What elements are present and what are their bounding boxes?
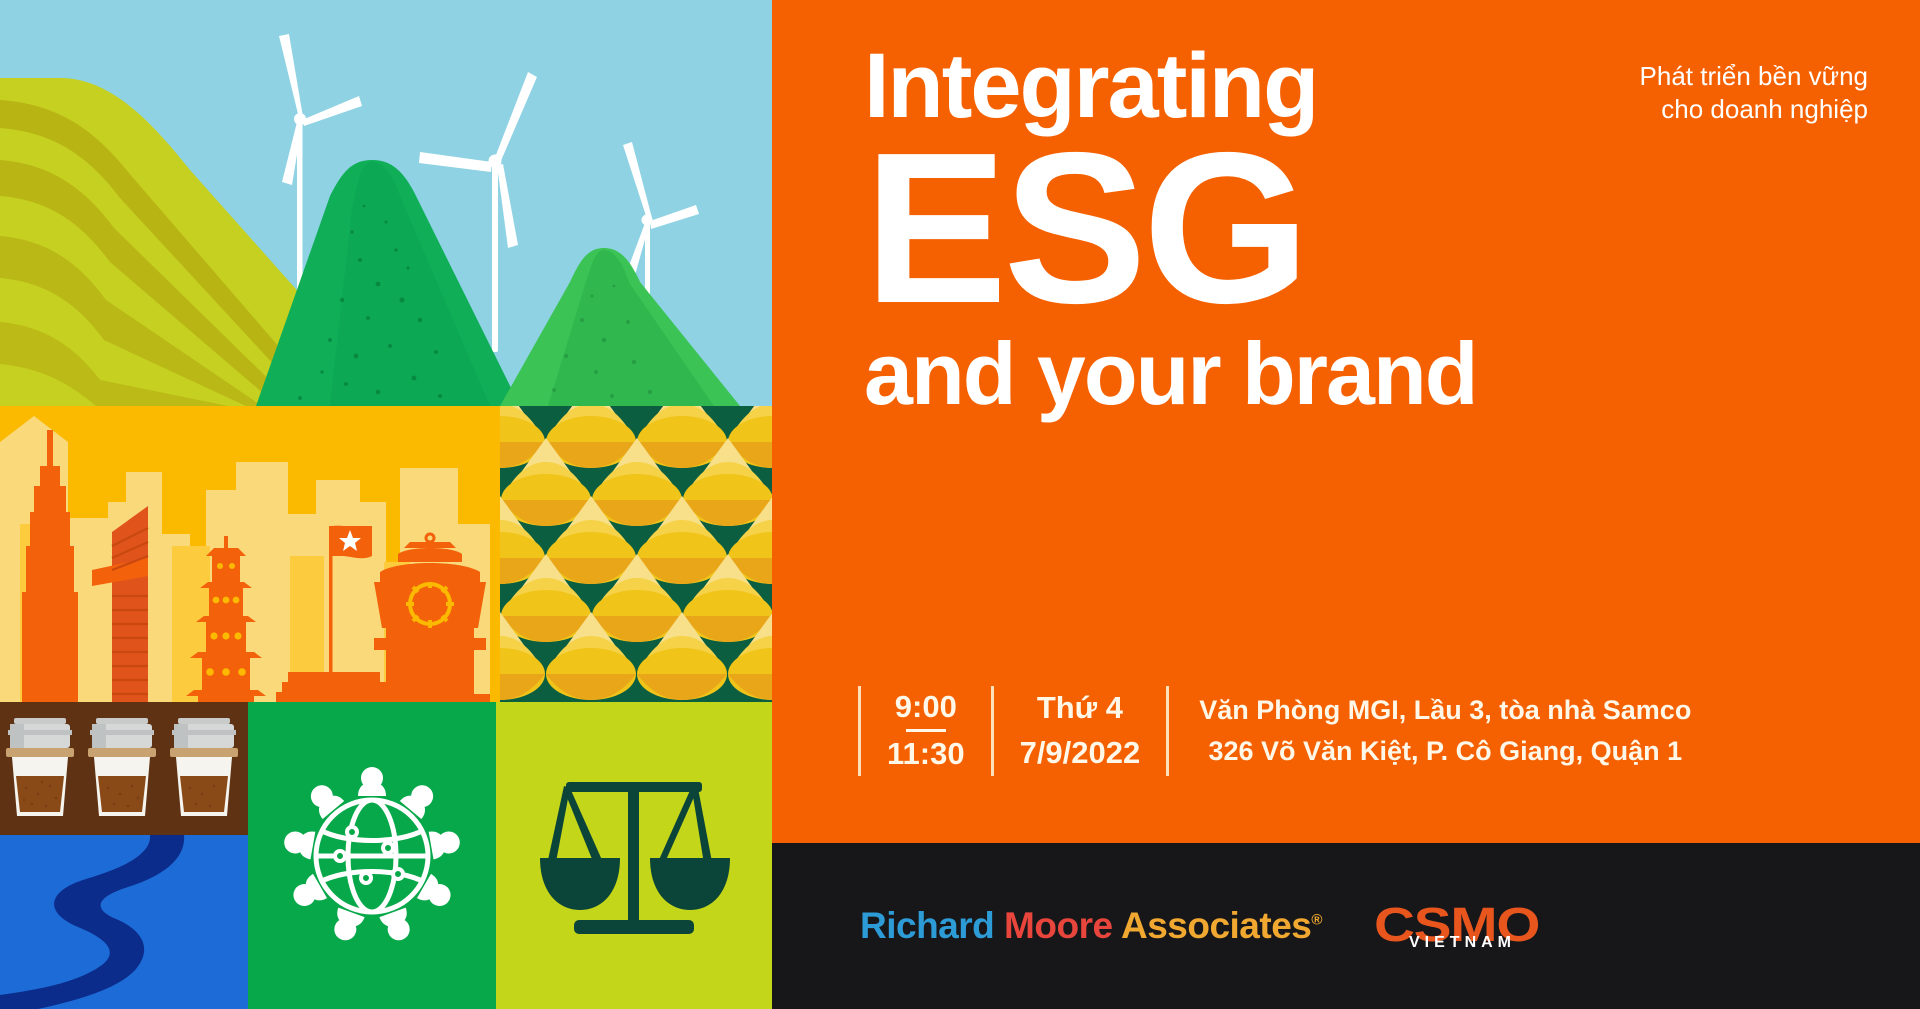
rma-word-moore: Moore: [1004, 905, 1113, 946]
panel-vietnamese-coffee: [0, 702, 248, 835]
footer-bar: Richard Moore Associates® CSMO VIETNAM: [772, 843, 1920, 1009]
address-line-2: 326 Võ Văn Kiệt, P. Cô Giang, Quận 1: [1199, 731, 1691, 772]
esg-event-poster: Integrating ESG and your brand Phát triể…: [0, 0, 1920, 1009]
event-date: Thứ 4 7/9/2022: [994, 686, 1167, 776]
main-orange-panel: Integrating ESG and your brand Phát triể…: [772, 0, 1920, 843]
winding-river-illustration: [0, 835, 248, 1009]
panel-global-community: [248, 702, 496, 1009]
event-time: 9:00 11:30: [861, 686, 991, 776]
balance-scales-icon: [496, 702, 772, 1009]
coffee-phin-cups-illustration: [0, 702, 248, 835]
logo-csmo-vietnam: CSMO VIETNAM: [1374, 902, 1514, 950]
panel-winding-river: [0, 835, 248, 1009]
global-community-icon: [248, 702, 496, 1009]
panel-conical-hat-pattern: [500, 406, 772, 702]
registered-trademark-icon: ®: [1311, 912, 1322, 929]
address-line-1: Văn Phòng MGI, Lầu 3, tòa nhà Samco: [1199, 690, 1691, 731]
time-start: 9:00: [887, 688, 965, 727]
time-end: 11:30: [887, 735, 965, 774]
rma-word-associates: Associates: [1121, 905, 1311, 946]
time-separator: [906, 729, 946, 732]
event-address: Văn Phòng MGI, Lầu 3, tòa nhà Samco 326 …: [1169, 686, 1721, 776]
headline-esg: ESG: [864, 129, 1477, 327]
date-value: 7/9/2022: [1020, 731, 1141, 776]
event-details: 9:00 11:30 Thứ 4 7/9/2022 Văn Phòng MGI,…: [858, 686, 1721, 776]
panel-vietnam-city-skyline: [0, 406, 500, 702]
rma-word-richard: Richard: [860, 905, 994, 946]
csmo-subtitle: VIETNAM: [1409, 934, 1516, 952]
date-weekday: Thứ 4: [1020, 686, 1141, 731]
tagline-line-1: Phát triển bền vững: [1640, 60, 1868, 93]
conical-hat-pattern-illustration: [500, 406, 772, 702]
logo-richard-moore-associates: Richard Moore Associates®: [860, 905, 1322, 947]
artwork-mosaic: [0, 0, 772, 1009]
panel-wind-turbines-mountains: [0, 0, 772, 406]
tagline-block: Phát triển bền vững cho doanh nghiệp: [1640, 60, 1868, 127]
city-skyline-illustration: [0, 406, 500, 702]
wind-turbine-landscape-illustration: [0, 0, 772, 406]
headline-line-3: and your brand: [864, 328, 1477, 420]
headline-block: Integrating ESG and your brand: [864, 38, 1477, 421]
panel-balance-scales: [496, 702, 772, 1009]
coffee-cup-icon: [6, 718, 238, 816]
tagline-line-2: cho doanh nghiệp: [1640, 93, 1868, 126]
